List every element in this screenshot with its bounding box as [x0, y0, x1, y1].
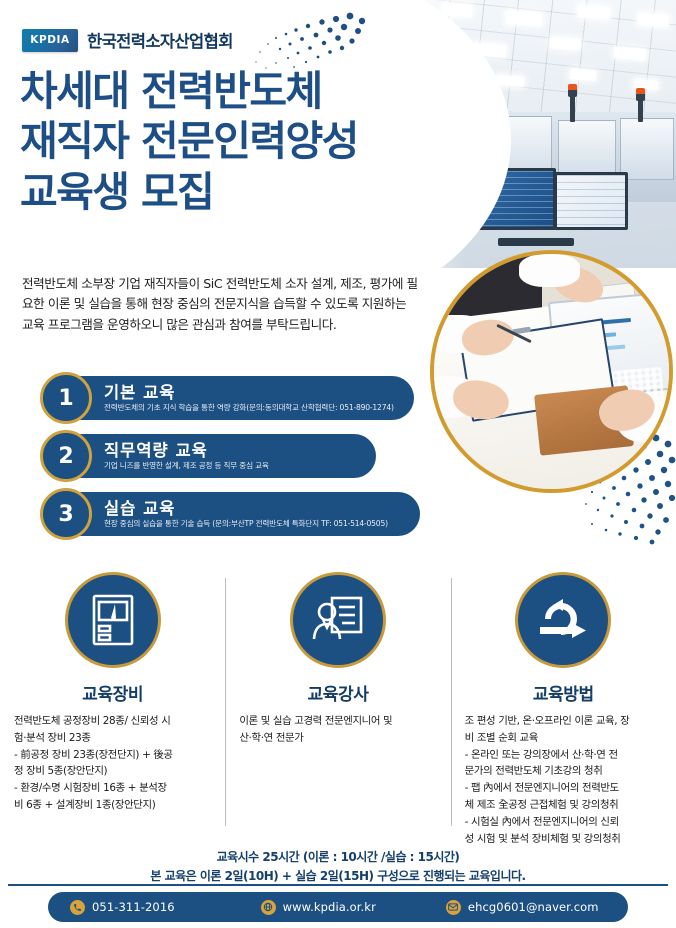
association-logo-row: KPDIA 한국전력소자산업협회 [22, 28, 233, 52]
intro-paragraph: 전력반도체 소부장 기업 재직자들이 SiC 전력반도체 소자 설계, 제조, … [22, 274, 420, 335]
feature-columns: 교육장비 전력반도체 공정장비 28종/ 신뢰성 시 험·분석 장비 23종 -… [0, 572, 676, 840]
method-line-6: 체 제조 全공정 근접체험 및 강의청취 [465, 798, 662, 814]
hero-lab-photo [346, 0, 676, 268]
association-name: 한국전력소자산업협회 [87, 28, 233, 52]
title-line-1: 차세대 전력반도체 [20, 72, 358, 111]
program-title-3: 실습 교육 [104, 500, 388, 518]
meeting-circle-photo [430, 250, 673, 493]
feature-column-method: 교육방법 조 편성 기반, 온·오프라인 이론 교육, 장 비 조별 순회 교육… [451, 572, 676, 840]
method-line-1: 조 편성 기반, 온·오프라인 이론 교육, 장 [465, 714, 662, 730]
contact-bar: 051-311-2016 www.kpdia.or.kr ehcg0601@na… [48, 892, 628, 922]
program-item-2[interactable]: 2 직무역량 교육 기업 니즈를 반영한 설계, 제조 공정 등 직무 중심 교… [46, 434, 376, 478]
method-line-8: 성 시험 및 분석 장비체험 및 강의청취 [465, 832, 662, 848]
contact-email[interactable]: ehcg0601@naver.com [446, 900, 599, 915]
instructor-icon [290, 572, 386, 668]
contact-phone-text: 051-311-2016 [92, 900, 175, 914]
kpdia-logo-text: KPDIA [30, 34, 70, 46]
training-summary: 교육시수 25시간 (이론 : 10시간 /실습 : 15시간) 본 교육은 이… [0, 848, 676, 885]
contact-website[interactable]: www.kpdia.or.kr [261, 900, 376, 915]
feature-title-method: 교육방법 [465, 680, 662, 705]
phone-icon [70, 900, 85, 915]
program-title-1: 기본 교육 [104, 384, 394, 402]
contact-email-text: ehcg0601@naver.com [468, 900, 599, 914]
program-subtitle-3: 현장 중심의 실습을 통한 기술 습득 (문의:부산TP 전력반도체 특화단지 … [104, 520, 388, 528]
feature-column-equipment: 교육장비 전력반도체 공정장비 28종/ 신뢰성 시 험·분석 장비 23종 -… [0, 572, 225, 840]
title-line-3: 교육생 모집 [20, 173, 358, 212]
equipment-line-3: - 前공정 장비 23종(장전단지) + 後공 [14, 748, 211, 764]
program-item-1[interactable]: 1 기본 교육 전력반도체의 기초 지식 학습을 통한 역량 강화(문의:동의대… [46, 376, 414, 420]
email-icon [446, 900, 461, 915]
method-line-2: 비 조별 순회 교육 [465, 731, 662, 747]
method-line-4: 문가의 전력반도체 기초강의 청취 [465, 764, 662, 780]
equipment-line-6: 비 6종 + 설계장비 1종(장안단지) [14, 798, 211, 814]
program-number-1: 1 [40, 372, 92, 424]
program-item-3[interactable]: 3 실습 교육 현장 중심의 실습을 통한 기술 습득 (문의:부산TP 전력반… [46, 492, 420, 536]
contact-phone[interactable]: 051-311-2016 [70, 900, 175, 915]
equipment-line-2: 험·분석 장비 23종 [14, 731, 211, 747]
poster-title: 차세대 전력반도체 재직자 전문인력양성 교육생 모집 [20, 72, 358, 223]
feature-title-instructor: 교육강사 [239, 680, 436, 705]
equipment-icon [65, 572, 161, 668]
equipment-line-5: - 환경/수명 시험장비 16종 + 분석장 [14, 781, 211, 797]
poster-root: KPDIA 한국전력소자산업협회 차세대 전력반도체 재직자 전문인력양성 교육… [0, 0, 676, 928]
instructor-line-2: 산·학·연 전문가 [239, 731, 436, 747]
globe-icon [261, 900, 276, 915]
summary-line-2: 본 교육은 이론 2일(10H) + 실습 2일(15H) 구성으로 진행되는 … [0, 867, 676, 886]
feature-body-instructor: 이론 및 실습 고경력 전문엔지니어 및 산·학·연 전문가 [239, 714, 436, 747]
instructor-line-1: 이론 및 실습 고경력 전문엔지니어 및 [239, 714, 436, 730]
kpdia-logo-badge: KPDIA [22, 29, 78, 52]
title-line-2: 재직자 전문인력양성 [20, 122, 358, 161]
feature-title-equipment: 교육장비 [14, 680, 211, 705]
program-number-3: 3 [40, 488, 92, 540]
feature-body-equipment: 전력반도체 공정장비 28종/ 신뢰성 시 험·분석 장비 23종 - 前공정 … [14, 714, 211, 814]
method-icon [515, 572, 611, 668]
method-line-5: - 팹 內에서 전문엔지니어의 전력반도 [465, 781, 662, 797]
footer-divider [8, 884, 668, 886]
contact-website-text: www.kpdia.or.kr [283, 900, 376, 914]
summary-line-1: 교육시수 25시간 (이론 : 10시간 /실습 : 15시간) [0, 848, 676, 867]
method-line-3: - 온라인 또는 강의장에서 산·학·연 전 [465, 748, 662, 764]
equipment-line-4: 정 장비 5종(장안단지) [14, 764, 211, 780]
feature-column-instructor: 교육강사 이론 및 실습 고경력 전문엔지니어 및 산·학·연 전문가 [225, 572, 450, 840]
halftone-dots-header [232, 10, 372, 72]
program-subtitle-1: 전력반도체의 기초 지식 학습을 통한 역량 강화(문의:동의대학교 산학협력단… [104, 404, 394, 412]
equipment-line-1: 전력반도체 공정장비 28종/ 신뢰성 시 [14, 714, 211, 730]
program-title-2: 직무역량 교육 [104, 442, 269, 460]
monitor-light [554, 172, 628, 230]
feature-body-method: 조 편성 기반, 온·오프라인 이론 교육, 장 비 조별 순회 교육 - 온라… [465, 714, 662, 848]
program-number-2: 2 [40, 430, 92, 482]
program-subtitle-2: 기업 니즈를 반영한 설계, 제조 공정 등 직무 중심 교육 [104, 462, 269, 470]
method-line-7: - 시험실 內에서 전문엔지니어의 신뢰 [465, 815, 662, 831]
